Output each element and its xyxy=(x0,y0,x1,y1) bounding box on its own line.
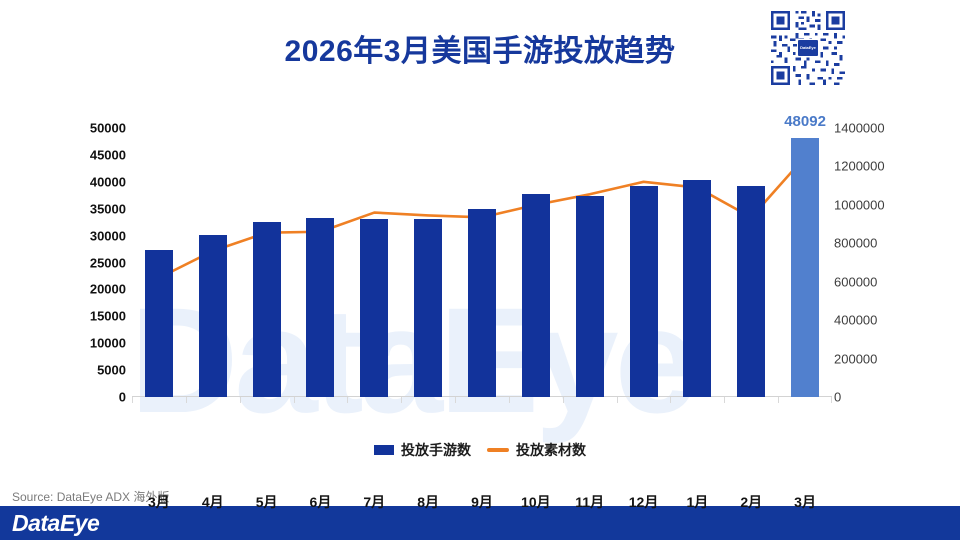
y-axis-right: 0200000400000600000800000100000012000001… xyxy=(834,100,924,430)
x-axis-label-5: 8月 xyxy=(417,492,439,512)
dataeye-logo: DataEye xyxy=(12,510,99,537)
y-axis-left-tick: 40000 xyxy=(90,174,126,189)
x-axis-label-8: 11月 xyxy=(575,492,604,512)
x-axis-tick xyxy=(132,397,133,403)
y-axis-left-tick: 35000 xyxy=(90,201,126,216)
x-axis-label-4: 7月 xyxy=(363,492,385,512)
bar-1月-10[interactable] xyxy=(683,180,711,397)
legend-item-0[interactable]: 投放手游数 xyxy=(374,440,471,460)
legend-label: 投放手游数 xyxy=(401,440,471,460)
y-axis-right-tick: 1200000 xyxy=(834,159,885,174)
x-axis-tick xyxy=(670,397,671,403)
x-axis-tick xyxy=(455,397,456,403)
y-axis-left-tick: 0 xyxy=(119,390,126,405)
bar-5月-2[interactable] xyxy=(253,222,281,397)
x-axis-label-10: 1月 xyxy=(686,492,708,512)
chart-area: DataEye 05000100001500020000250003000035… xyxy=(0,100,960,430)
x-axis-label-9: 12月 xyxy=(629,492,659,512)
y-axis-right-tick: 600000 xyxy=(834,274,877,289)
y-axis-right-tick: 800000 xyxy=(834,236,877,251)
bar-10月-7[interactable] xyxy=(522,194,550,397)
legend-label: 投放素材数 xyxy=(516,440,586,460)
y-axis-left: 0500010000150002000025000300003500040000… xyxy=(56,100,126,430)
y-axis-left-tick: 5000 xyxy=(97,363,126,378)
bar-3月-12[interactable] xyxy=(791,138,819,397)
bar-12月-9[interactable] xyxy=(630,186,658,397)
y-axis-right-tick: 200000 xyxy=(834,351,877,366)
qr-code[interactable]: DataEye xyxy=(766,8,850,88)
legend-line-swatch-icon xyxy=(487,448,509,452)
x-axis-tick xyxy=(240,397,241,403)
x-axis-label-12: 3月 xyxy=(794,492,816,512)
qr-code-center-logo: DataEye xyxy=(797,39,819,57)
y-axis-right-tick: 0 xyxy=(834,390,841,405)
legend-bar-swatch-icon xyxy=(374,445,394,455)
x-axis-label-11: 2月 xyxy=(740,492,762,512)
x-axis-label-0: 3月 xyxy=(148,492,170,512)
y-axis-left-tick: 10000 xyxy=(90,336,126,351)
bar-7月-4[interactable] xyxy=(360,219,388,397)
y-axis-left-tick: 30000 xyxy=(90,228,126,243)
bar-9月-6[interactable] xyxy=(468,209,496,397)
y-axis-left-tick: 50000 xyxy=(90,121,126,136)
y-axis-left-tick: 20000 xyxy=(90,282,126,297)
bar-value-label: 48092 xyxy=(784,113,826,130)
y-axis-right-tick: 1400000 xyxy=(834,121,885,136)
x-axis-tick xyxy=(509,397,510,403)
bar-6月-3[interactable] xyxy=(306,218,334,397)
y-axis-left-tick: 15000 xyxy=(90,309,126,324)
y-axis-left-tick: 45000 xyxy=(90,147,126,162)
x-axis-tick xyxy=(563,397,564,403)
bar-11月-8[interactable] xyxy=(576,196,604,397)
chart-legend: 投放手游数投放素材数 xyxy=(0,440,960,460)
x-axis-label-7: 10月 xyxy=(521,492,551,512)
x-axis-tick xyxy=(831,397,832,403)
x-axis-tick xyxy=(347,397,348,403)
x-axis-labels: 3月4月5月6月7月8月9月10月11月12月1月2月3月 xyxy=(132,492,832,516)
bar-4月-1[interactable] xyxy=(199,235,227,397)
y-axis-right-tick: 1000000 xyxy=(834,197,885,212)
x-axis-label-6: 9月 xyxy=(471,492,493,512)
plot-area: 48092 xyxy=(132,100,832,430)
x-axis-tick xyxy=(186,397,187,403)
bar-3月-0[interactable] xyxy=(145,250,173,397)
x-axis-tick xyxy=(778,397,779,403)
bar-8月-5[interactable] xyxy=(414,219,442,397)
y-axis-right-tick: 400000 xyxy=(834,313,877,328)
x-axis-tick xyxy=(294,397,295,403)
bar-2月-11[interactable] xyxy=(737,186,765,397)
legend-item-1[interactable]: 投放素材数 xyxy=(487,440,586,460)
x-axis-label-1: 4月 xyxy=(202,492,224,512)
x-axis-tick xyxy=(401,397,402,403)
x-axis-label-2: 5月 xyxy=(256,492,278,512)
x-axis-label-3: 6月 xyxy=(310,492,332,512)
x-axis-tick xyxy=(724,397,725,403)
y-axis-left-tick: 25000 xyxy=(90,255,126,270)
x-axis-tick xyxy=(617,397,618,403)
